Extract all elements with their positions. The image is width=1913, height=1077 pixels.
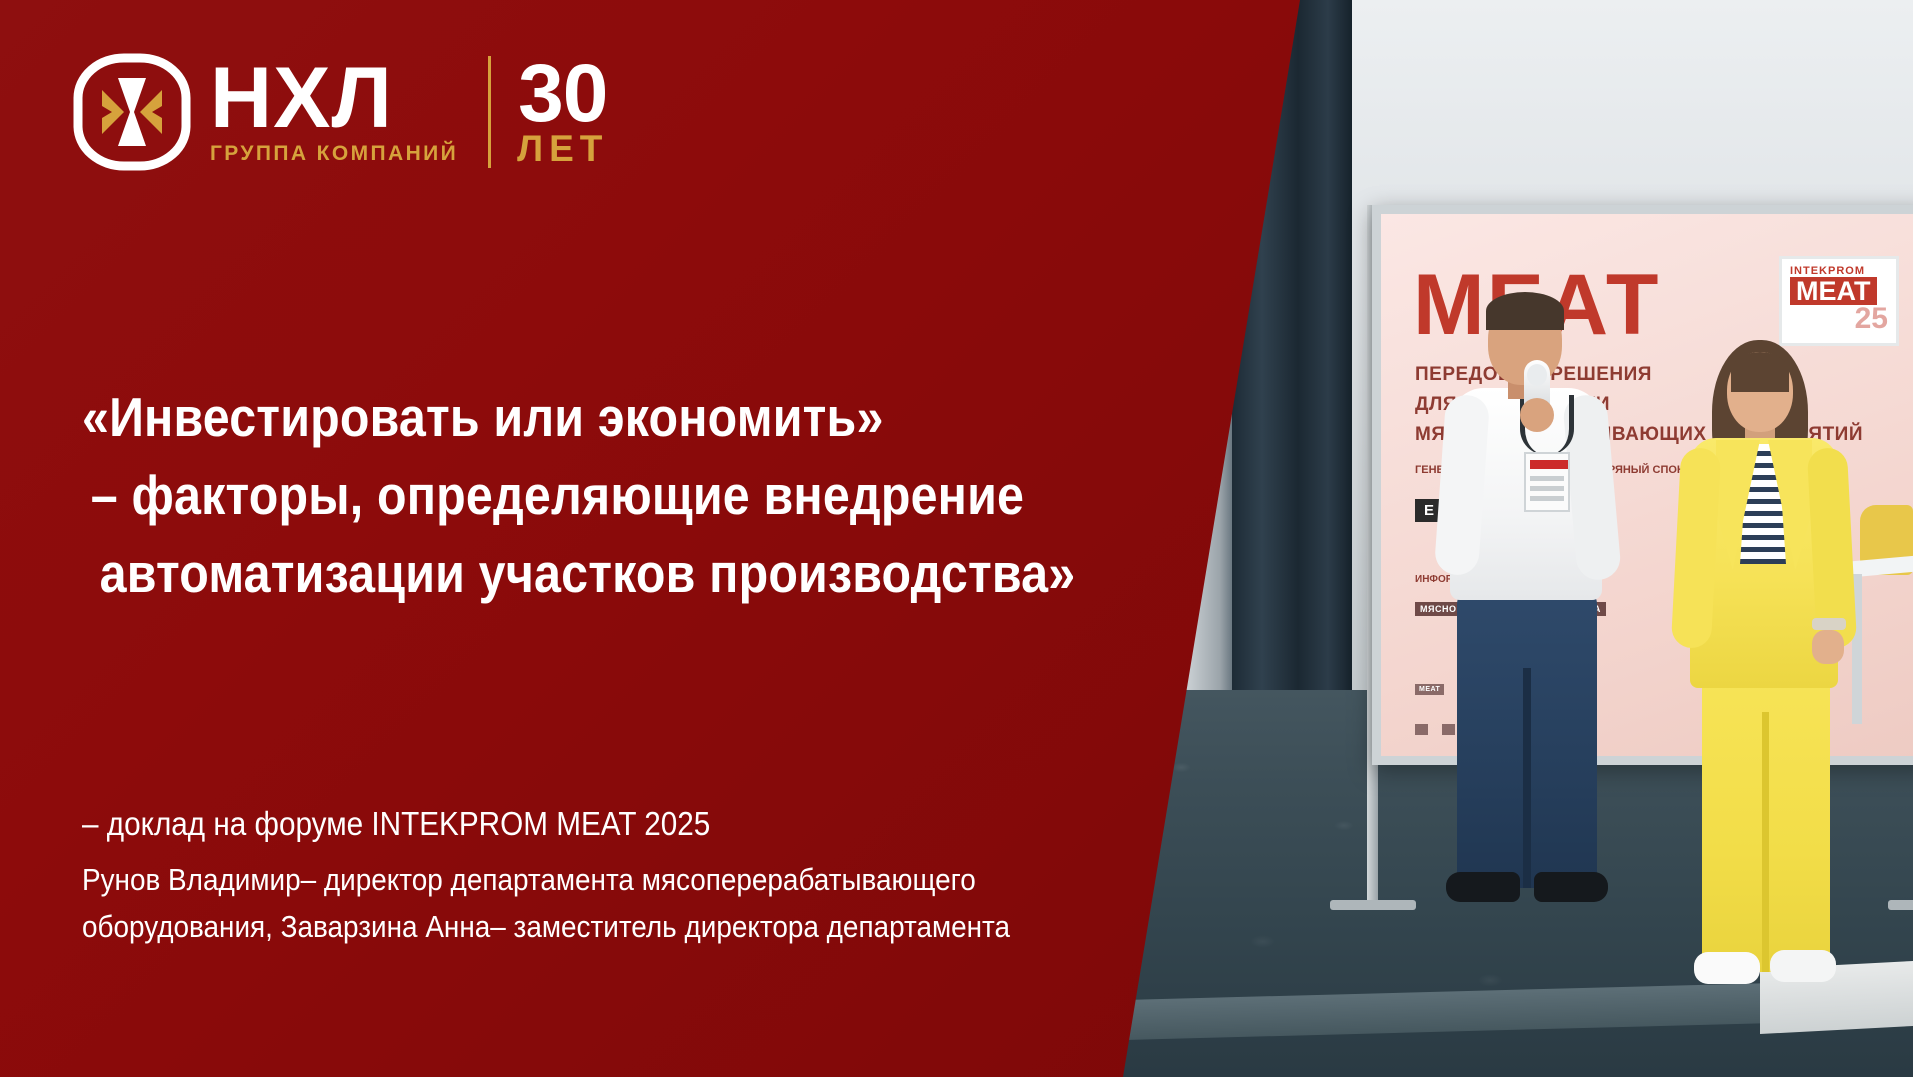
presentation-slide: МЕАТ ПЕРЕДОВЫЕ РЕШЕНИЯ ДЛЯ ПЕРЕРАБОТКИ М… <box>0 0 1913 1077</box>
event-subtitle: – доклад на форуме INTEKPROM MEAT 2025 <box>82 805 710 843</box>
anniversary-label: ЛЕТ <box>517 130 608 167</box>
page-title: «Инвестировать или экономить» – факторы,… <box>82 378 1068 612</box>
brand-tagline: ГРУППА КОМПАНИЙ <box>210 142 458 166</box>
banner-foot-left <box>1330 900 1416 910</box>
woman-watch <box>1812 618 1846 630</box>
authors-line-2: оборудования, Заварзина Анна– заместител… <box>82 903 1189 950</box>
man-legs <box>1457 588 1597 888</box>
banner-footer-logo-7 <box>1442 724 1455 735</box>
man-hand <box>1520 398 1554 432</box>
logo-divider <box>488 56 491 168</box>
banner-badge-mid: MEAT <box>1790 277 1877 305</box>
banner-badge-year: 25 <box>1790 305 1888 332</box>
man-shoe-left <box>1446 872 1520 902</box>
woman-trousers <box>1702 672 1830 972</box>
brand-lockup: НХЛ ГРУППА КОМПАНИЙ <box>210 58 458 166</box>
woman-hair-front <box>1731 352 1789 392</box>
authors-line-1: Рунов Владимир– директор департамента мя… <box>82 856 1189 903</box>
man-shoe-right <box>1534 872 1608 902</box>
woman-shoe-right <box>1770 950 1836 982</box>
woman-hand-right <box>1812 630 1844 664</box>
woman-shoe-left <box>1694 952 1760 984</box>
man-badge <box>1524 452 1570 512</box>
title-line-1: «Инвестировать или экономить» <box>82 378 1068 456</box>
nhl-monogram-icon <box>72 52 192 172</box>
man-hair <box>1486 292 1564 330</box>
anniversary-badge: 30 ЛЕТ <box>517 57 608 168</box>
company-logo[interactable]: НХЛ ГРУППА КОМПАНИЙ 30 ЛЕТ <box>72 52 608 172</box>
authors-block: Рунов Владимир– директор департамента мя… <box>82 856 1189 950</box>
banner-badge: INTEKPROM MEAT 25 <box>1779 256 1899 346</box>
banner-footer-logo-1: MEAT <box>1415 684 1444 695</box>
title-line-3: автоматизации участков производства» <box>82 534 1068 612</box>
banner-footer-logo-6 <box>1415 724 1428 735</box>
brand-name: НХЛ <box>210 58 458 140</box>
banner-foot-right <box>1888 900 1913 910</box>
anniversary-number: 30 <box>517 57 608 131</box>
title-line-2: – факторы, определяющие внедрение <box>82 456 1068 534</box>
